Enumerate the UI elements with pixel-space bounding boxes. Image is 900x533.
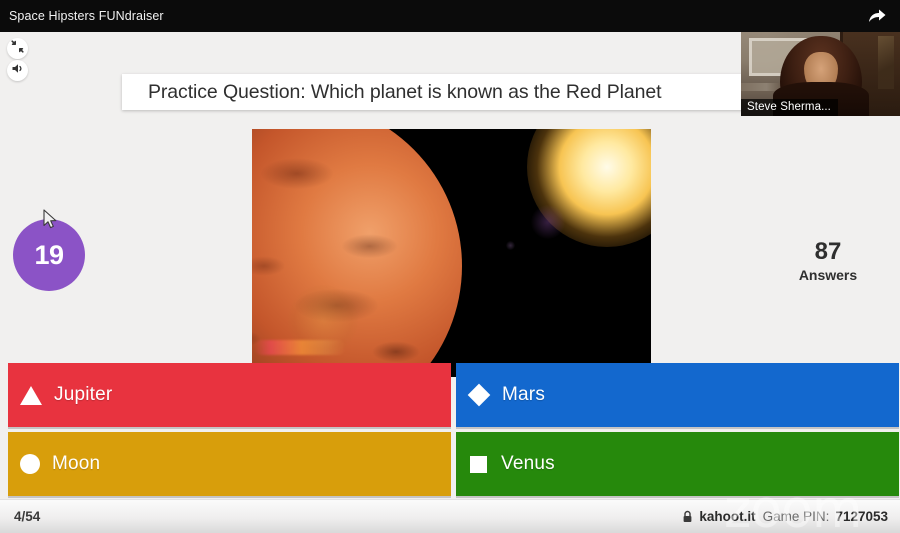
video-cabinet-glass — [878, 36, 894, 89]
answer-label: Venus — [501, 453, 555, 475]
zoom-screenshare-window: Space Hipsters FUNdraiser — [0, 0, 900, 533]
game-pin-value: 7127053 — [835, 509, 888, 524]
answer-tiles-grid: Jupiter Mars Moon Venus — [8, 363, 892, 500]
meeting-title: Space Hipsters FUNdraiser — [0, 9, 164, 23]
mars-surface-texture — [252, 129, 462, 377]
question-media-image — [252, 129, 651, 377]
game-join-info: kahoot.it Game PIN: 7127053 — [682, 509, 900, 524]
sun-glow — [527, 129, 651, 247]
answers-count: 87 — [783, 239, 873, 264]
answer-label: Moon — [52, 453, 100, 475]
answer-label: Jupiter — [54, 384, 112, 406]
participant-video-thumbnail[interactable]: Steve Sherma... — [741, 28, 900, 116]
speaker-icon — [11, 62, 24, 80]
circle-icon — [20, 454, 40, 474]
answer-tile-mars[interactable]: Mars — [456, 363, 899, 427]
answers-label: Answers — [783, 267, 873, 283]
answer-tile-venus[interactable]: Venus — [456, 432, 899, 496]
exit-fullscreen-icon — [11, 40, 24, 58]
answer-label: Mars — [502, 384, 545, 406]
answers-counter: 87 Answers — [783, 239, 873, 283]
kahoot-site-label: kahoot.it — [699, 509, 755, 524]
window-titlebar: Space Hipsters FUNdraiser — [0, 0, 900, 32]
question-progress: 4/54 — [0, 509, 40, 524]
lens-flare-dot — [506, 241, 515, 250]
lock-icon — [682, 510, 693, 523]
question-text: Practice Question: Which planet is known… — [122, 81, 661, 104]
triangle-icon — [20, 386, 42, 405]
answer-tile-moon[interactable]: Moon — [8, 432, 451, 496]
square-icon — [470, 456, 487, 473]
game-footer: 4/54 kahoot.it Game PIN: 7127053 — [0, 499, 900, 533]
answer-tile-jupiter[interactable]: Jupiter — [8, 363, 451, 427]
timer-seconds: 19 — [34, 240, 63, 271]
question-banner: Practice Question: Which planet is known… — [122, 74, 778, 110]
participant-name-label: Steve Sherma... — [741, 99, 838, 116]
share-arrow-icon[interactable] — [860, 0, 894, 32]
diamond-icon — [468, 384, 491, 407]
countdown-timer: 19 — [13, 219, 85, 291]
sound-toggle-button[interactable] — [7, 60, 28, 81]
game-pin-label: Game PIN: — [763, 509, 830, 524]
exit-fullscreen-button[interactable] — [7, 38, 28, 59]
